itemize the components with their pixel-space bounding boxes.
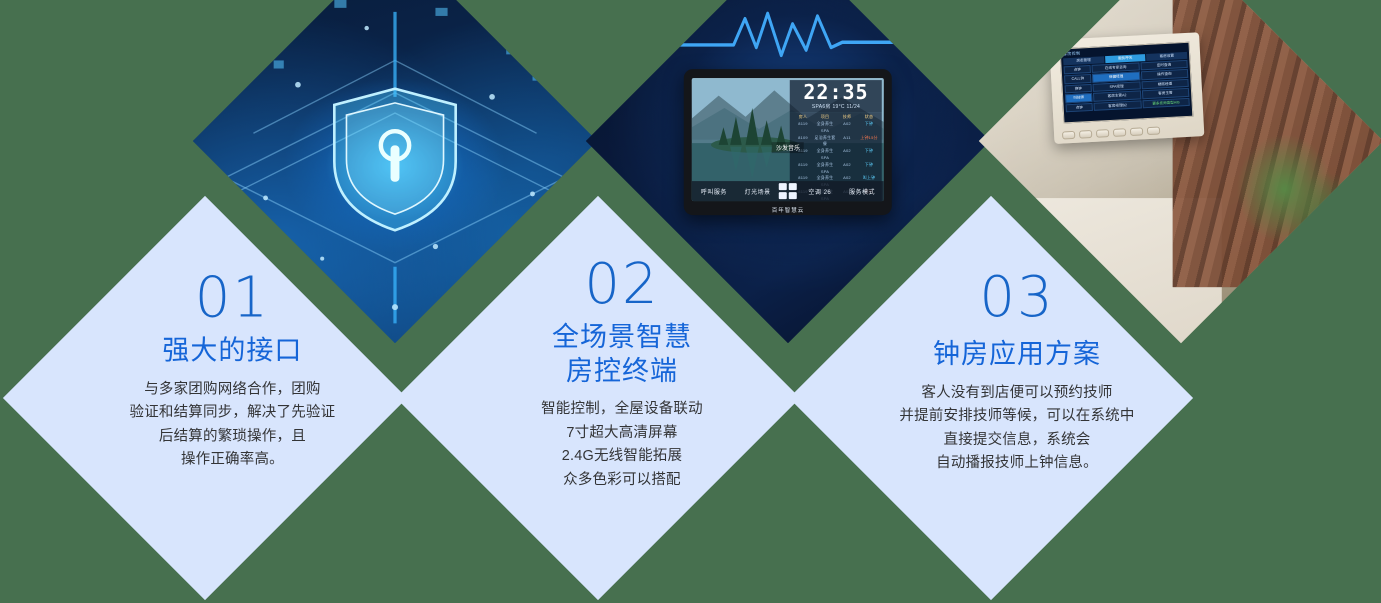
cell-status: 下钟	[858, 121, 880, 135]
hw-button-2[interactable]	[1079, 130, 1092, 139]
col-status: 状态	[858, 114, 880, 121]
btn-dianzhong-2[interactable]: 点钟	[1065, 103, 1093, 113]
cell-tech: A02	[836, 148, 858, 162]
cell-status: 下钟	[858, 162, 880, 176]
wall-panel-screen: 客房控制 房态管理 服务呼叫 客房设置 点钟 CALL钟 换钟 叫技师 点钟	[1059, 42, 1193, 124]
wall-panel-left-column: 点钟 CALL钟 换钟 叫技师 点钟	[1063, 65, 1093, 113]
home-grid-icon[interactable]	[779, 183, 797, 199]
cell-item: 全身养生SPA	[814, 121, 836, 135]
table-header-row: 房人 项目 技师 状态	[792, 114, 880, 121]
card-3-title: 钟房应用方案	[867, 338, 1167, 372]
hw-button-1[interactable]	[1062, 131, 1075, 140]
tablet-clock-widget: 22:35 SPA6房 19°C 11/24	[790, 80, 882, 112]
card-3-content: 03 钟房应用方案 客人没有到店便可以预约技师 并提前安排技师等候，可以在系统中…	[867, 269, 1167, 475]
wall-panel-right-column: 定时查询 操作查询 楼层经理 客房主管 更多技师类型A/B	[1140, 60, 1190, 109]
infographic-stage: 22:35 SPA6房 19°C 11/24 房人 项目 技师 状态 8119	[0, 0, 1381, 603]
scene-label: 沙发音乐	[772, 142, 804, 153]
table-row: 8119 全身养生SPA A02 下钟	[792, 162, 880, 176]
cell-room: 8119	[792, 162, 814, 176]
dock-item-light-scene[interactable]: 灯光场景	[745, 187, 771, 196]
col-room: 房人	[792, 114, 814, 121]
col-item: 项目	[814, 114, 836, 121]
hw-button-6[interactable]	[1147, 126, 1160, 135]
btn-jiao-jishi[interactable]: 叫技师	[1065, 93, 1093, 103]
dock-item-aircon[interactable]: 空调 26	[808, 187, 831, 196]
dock-item-call-service[interactable]: 呼叫服务	[701, 187, 727, 196]
cell-item: 足浴养生套餐	[814, 134, 836, 148]
btn-huan-zhong[interactable]: 换钟	[1064, 84, 1092, 94]
cell-status: 下钟	[858, 148, 880, 162]
table-row: 8119 全身养生SPA A02 下钟	[792, 148, 880, 162]
pulse-wave-icon	[675, 8, 901, 61]
cell-tech: A02	[836, 121, 858, 135]
wall-panel-grid: 点钟 CALL钟 换钟 叫技师 点钟 在线专家咨询 保健经理 SPA经理 客房主…	[1063, 60, 1189, 113]
cell-room: 8119	[792, 121, 814, 135]
cell-more-tech-types[interactable]: 更多技师类型A/B	[1142, 98, 1190, 109]
col-tech: 技师	[836, 114, 858, 121]
card-2-title: 全场景智慧 房控终端	[477, 321, 767, 389]
card-2-description: 智能控制，全屋设备联动 7寸超大高清屏幕 2.4G无线智能拓展 众多色彩可以搭配	[477, 398, 767, 492]
card-3-description: 客人没有到店便可以预约技师 并提前安排技师等候，可以在系统中 直接提交信息，系统…	[867, 381, 1167, 475]
hw-button-5[interactable]	[1130, 127, 1143, 136]
potted-plant	[1230, 133, 1368, 319]
cell-status: 上钟15分	[858, 134, 880, 148]
cell-item: 全身养生SPA	[814, 148, 836, 162]
tablet-screen: 22:35 SPA6房 19°C 11/24 房人 项目 技师 状态 8119	[692, 78, 884, 201]
tablet-brand-label: 百年智慧云	[684, 206, 892, 214]
table-row: 8109 足浴养生套餐 A11 上钟15分	[792, 134, 880, 148]
card-1-description: 与多家团购网络合作，团购 验证和结算同步，解决了先验证 后结算的繁琐操作，且 操…	[87, 378, 377, 472]
cell-tech: A02	[836, 162, 858, 176]
btn-dianzhong-1[interactable]: 点钟	[1063, 65, 1091, 75]
card-1-title: 强大的接口	[87, 334, 377, 368]
wall-panel-mid-column: 在线专家咨询 保健经理 SPA经理 客房主管A2 客房经理B2	[1092, 62, 1142, 111]
card-1-content: 01 强大的接口 与多家团购网络合作，团购 验证和结算同步，解决了先验证 后结算…	[87, 269, 377, 471]
wall-panel-hardware-buttons[interactable]	[1062, 126, 1160, 139]
cell-tech: A11	[836, 134, 858, 148]
smart-room-tablet-device: 22:35 SPA6房 19°C 11/24 房人 项目 技师 状态 8119	[684, 69, 892, 215]
card-2-content: 02 全场景智慧 房控终端 智能控制，全屋设备联动 7寸超大高清屏幕 2.4G无…	[477, 256, 767, 492]
table-row: 8119 全身养生SPA A02 下钟	[792, 121, 880, 135]
cell-room-manager-b2[interactable]: 客房经理B2	[1094, 100, 1142, 111]
hw-button-4[interactable]	[1113, 128, 1126, 137]
dock-item-service-mode[interactable]: 服务模式	[849, 187, 875, 196]
hw-button-3[interactable]	[1096, 129, 1109, 138]
shield-lock-icon	[334, 88, 455, 230]
btn-call-zhong[interactable]: CALL钟	[1064, 74, 1092, 84]
cell-item: 全身养生SPA	[814, 162, 836, 176]
wall-control-panel-device: 客房控制 房态管理 服务呼叫 客房设置 点钟 CALL钟 换钟 叫技师 点钟	[1049, 32, 1204, 144]
clock-time: 22:35	[793, 82, 879, 102]
